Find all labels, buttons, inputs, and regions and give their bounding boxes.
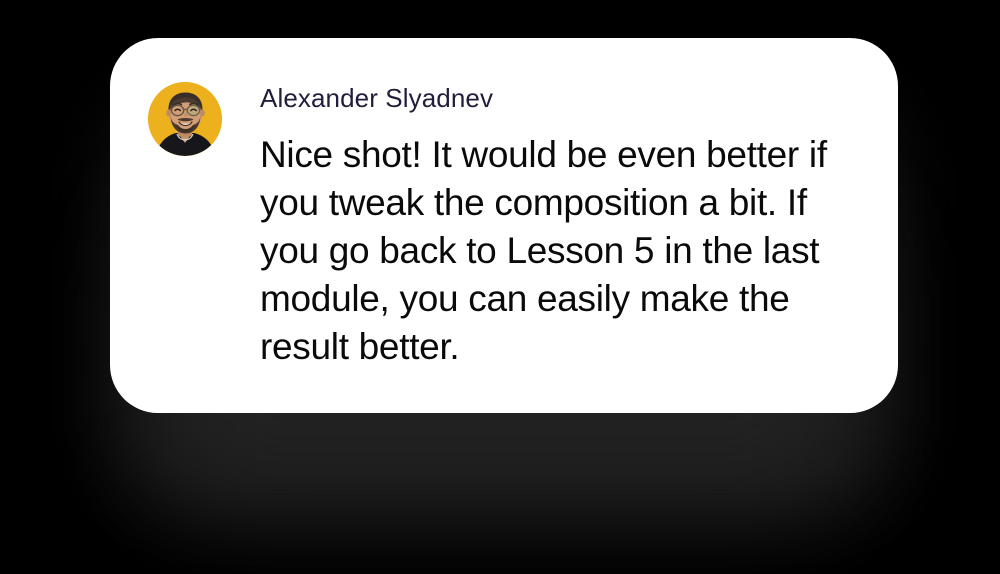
author-name[interactable]: Alexander Slyadnev (260, 84, 858, 113)
user-avatar-photo-icon (148, 82, 222, 156)
comment-card: Alexander Slyadnev Nice shot! It would b… (110, 38, 898, 413)
comment-body: Alexander Slyadnev Nice shot! It would b… (260, 82, 858, 371)
avatar[interactable] (148, 82, 222, 156)
screen-background: Alexander Slyadnev Nice shot! It would b… (0, 0, 1000, 574)
comment-card-inner: Alexander Slyadnev Nice shot! It would b… (148, 82, 858, 371)
comment-text: Nice shot! It would be even better if yo… (260, 131, 858, 371)
